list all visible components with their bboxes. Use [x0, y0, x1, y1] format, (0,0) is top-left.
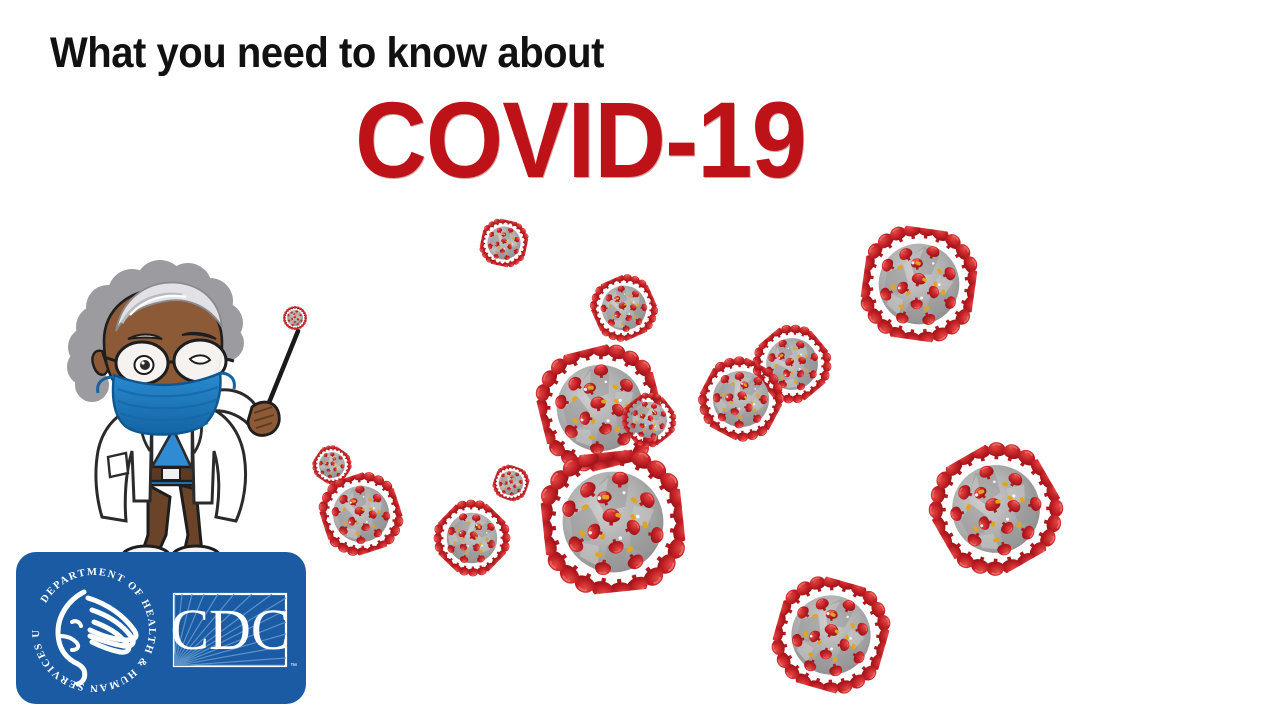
virus-particle: [536, 445, 690, 599]
right-eye: [190, 355, 210, 363]
virus-particle: [583, 267, 665, 349]
slide-canvas: What you need to know about COVID-19: [0, 0, 1280, 720]
doctor-character: [30, 235, 330, 580]
left-pupil: [140, 360, 150, 370]
virus-particle: [489, 461, 533, 505]
virus-particle: [477, 216, 532, 271]
mask-loop-right: [220, 373, 234, 389]
page-title-line2: COVID-19: [355, 86, 806, 194]
belt-buckle: [162, 468, 180, 480]
virus-particle: [423, 489, 522, 588]
cdc-hhs-logo[interactable]: DEPARTMENT OF HEALTH & HUMAN SERVICES US…: [16, 552, 306, 712]
page-title-line1: What you need to know about: [50, 32, 604, 75]
virus-particle: [913, 426, 1080, 593]
trademark-mark: ™: [290, 663, 297, 670]
coat-pocket: [108, 453, 128, 477]
virus-particle-on-pointer: [283, 306, 307, 330]
cdc-wordmark: CDC: [170, 597, 289, 662]
virus-particle: [856, 221, 982, 347]
virus-particle: [763, 567, 899, 703]
